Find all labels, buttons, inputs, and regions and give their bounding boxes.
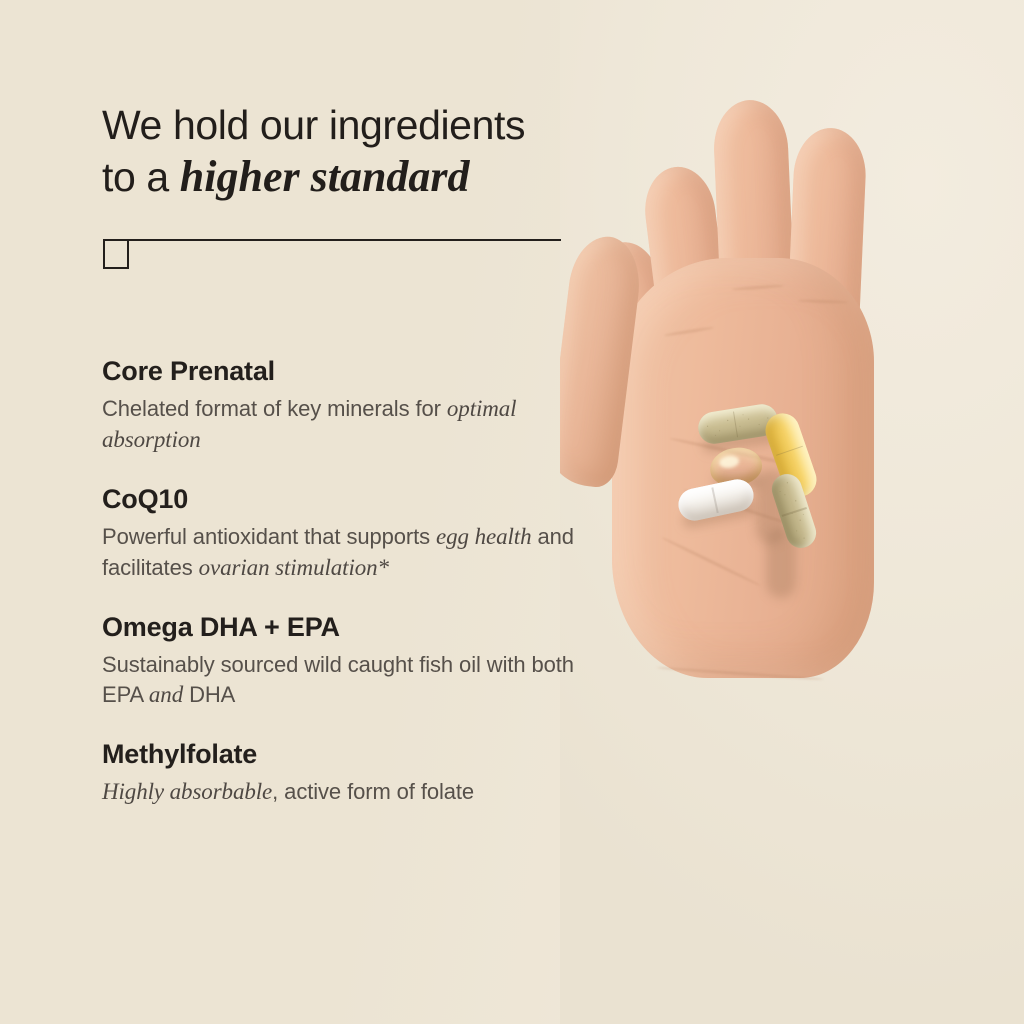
ingredient-item-omega: Omega DHA + EPA Sustainably sourced wild…	[102, 612, 592, 710]
headline-emphasis: higher standard	[180, 152, 470, 201]
ingredient-list: Core Prenatal Chelated format of key min…	[102, 356, 592, 808]
divider-square-icon	[103, 239, 129, 269]
page-title: We hold our ingredients to a higher stan…	[102, 100, 582, 205]
capsule-seam	[712, 487, 719, 514]
text-column: We hold our ingredients to a higher stan…	[0, 0, 600, 1024]
hand-photo	[560, 0, 1024, 1024]
ingredient-title: Core Prenatal	[102, 356, 592, 387]
divider-rule	[103, 239, 561, 241]
ingredient-description: Sustainably sourced wild caught fish oil…	[102, 650, 592, 710]
promo-canvas: We hold our ingredients to a higher stan…	[0, 0, 1024, 1024]
ingredient-item-core-prenatal: Core Prenatal Chelated format of key min…	[102, 356, 592, 455]
ingredient-title: Methylfolate	[102, 739, 592, 770]
softgel-highlight	[718, 455, 739, 470]
ingredient-title: Omega DHA + EPA	[102, 612, 592, 643]
ingredient-title: CoQ10	[102, 484, 592, 515]
desc-text: Powerful antioxidant that supports	[102, 524, 430, 549]
ingredient-item-methylfolate: Methylfolate Highly absorbable, active f…	[102, 739, 592, 808]
ingredient-description: Chelated format of key minerals for opti…	[102, 394, 592, 455]
headline-line-1: We hold our ingredients	[102, 102, 525, 148]
desc-emphasis: Highly absorbable	[102, 779, 272, 804]
headline-line-2-prefix: to a	[102, 154, 169, 200]
desc-emphasis: egg health	[436, 524, 531, 549]
ingredient-item-coq10: CoQ10 Powerful antioxidant that supports…	[102, 484, 592, 583]
desc-emphasis-2: ovarian stimulation*	[199, 555, 389, 580]
desc-text: Chelated format of key minerals for	[102, 396, 441, 421]
desc-text-post: , active form of folate	[272, 779, 474, 804]
divider	[103, 239, 561, 271]
desc-emphasis: and	[149, 682, 183, 707]
ingredient-description: Powerful antioxidant that supports egg h…	[102, 522, 592, 583]
desc-text-post: DHA	[189, 682, 235, 707]
ingredient-description: Highly absorbable, active form of folate	[102, 777, 592, 808]
capsule-seam	[776, 445, 803, 456]
